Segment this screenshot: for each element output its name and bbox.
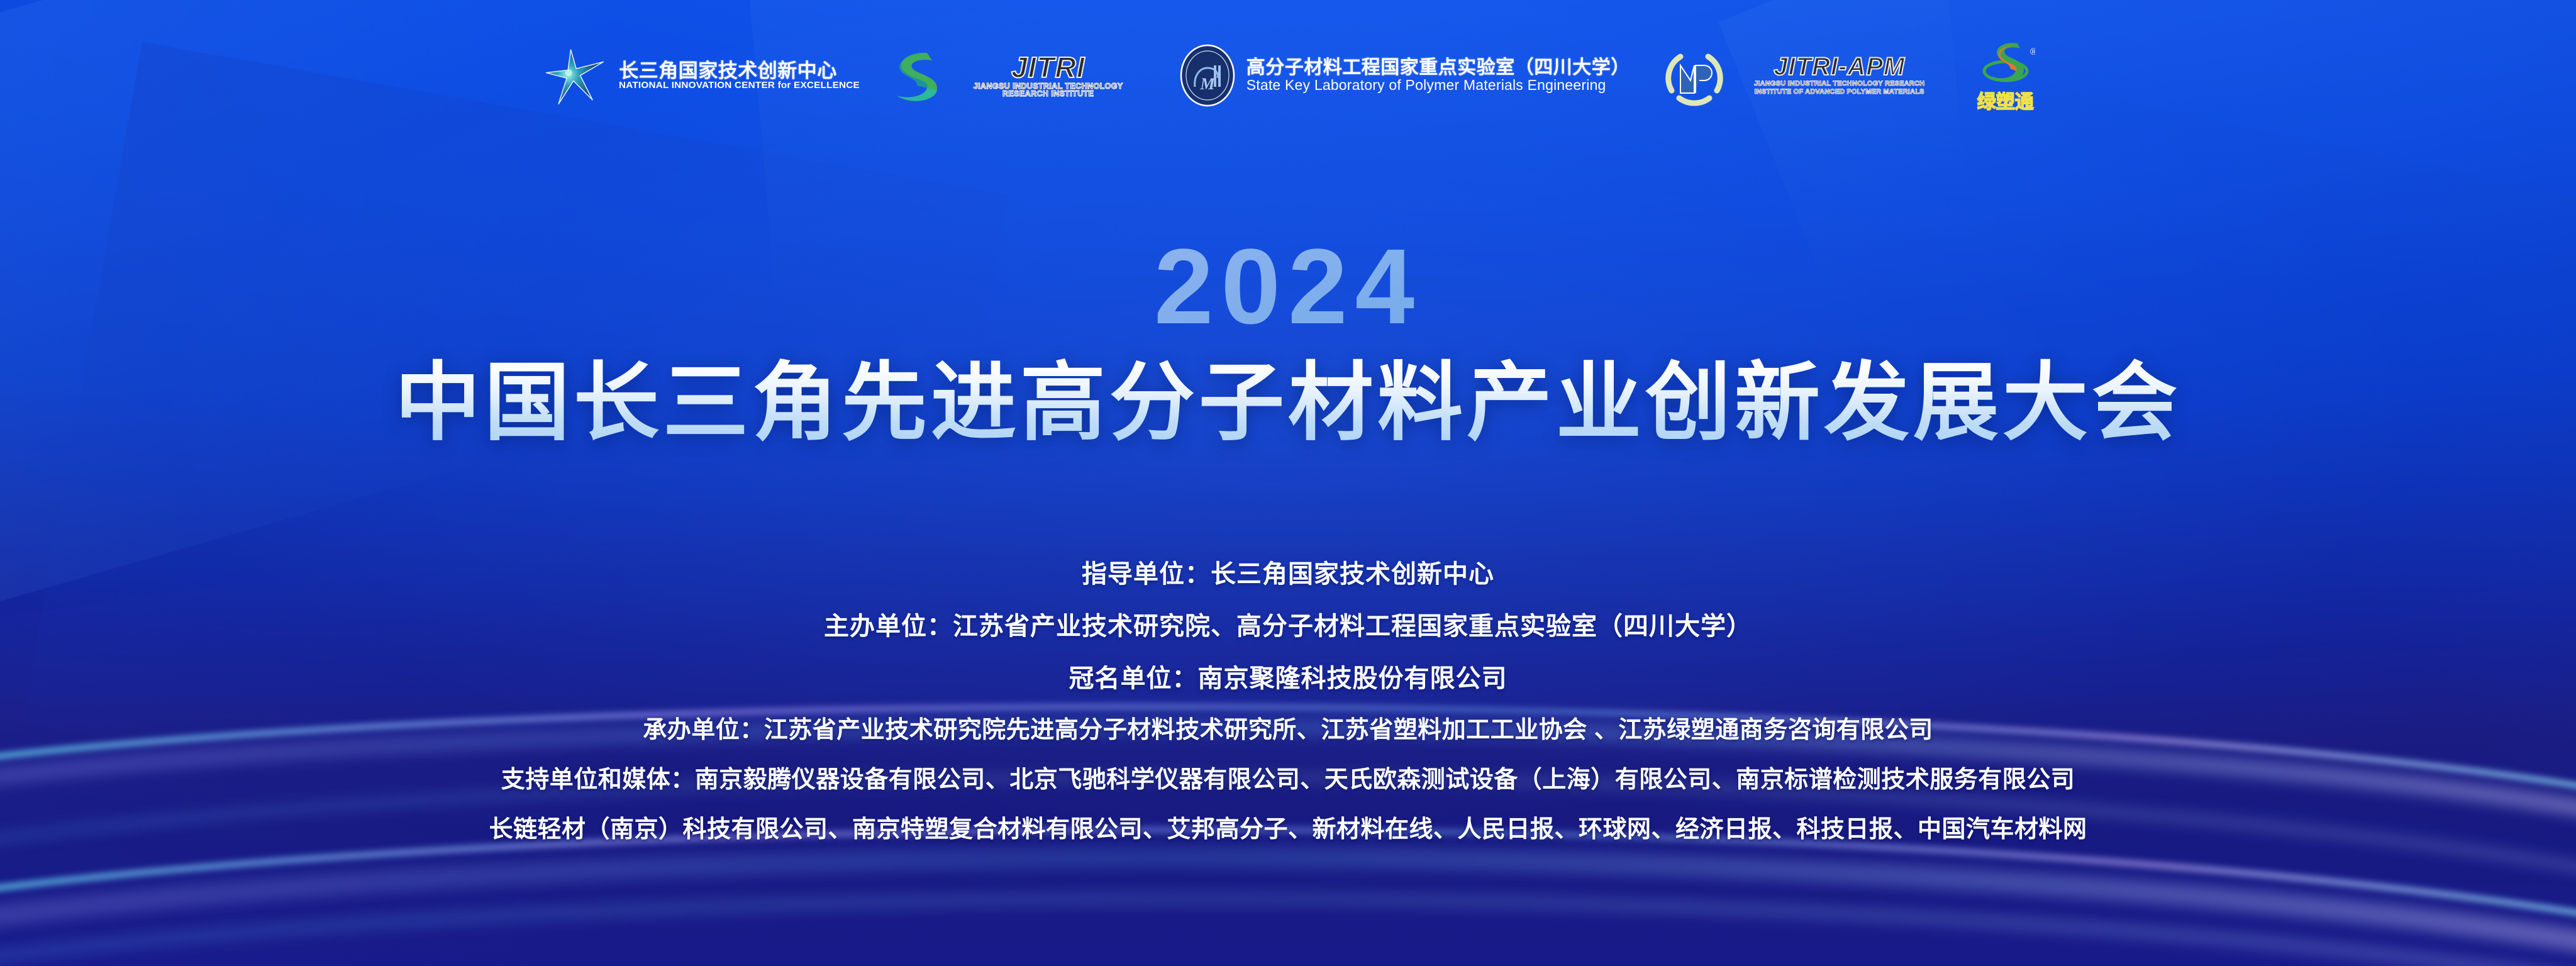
logo-label-cn: JITRI-APM bbox=[1774, 54, 1905, 80]
logo-label-en: State Key Laboratory of Polymer Material… bbox=[1246, 78, 1630, 92]
logo-national-innovation-center: 长三角国家技术创新中心 NATIONAL INNOVATION CENTER f… bbox=[541, 42, 855, 109]
logo-lvsutong: ® 绿塑通 bbox=[1976, 37, 2035, 114]
logo-label-cn: 高分子材料工程国家重点实验室（四川大学） bbox=[1246, 58, 1630, 78]
oval-seal-icon: M bbox=[1179, 43, 1236, 108]
logo-label-en: JIANGSU INDUSTRIAL TECHNOLOGY RESEARCH I… bbox=[951, 82, 1146, 99]
logo-jitri: JITRI JIANGSU INDUSTRIAL TECHNOLOGY RESE… bbox=[888, 47, 1146, 104]
credit-organizer: 承办单位：江苏省产业技术研究院先进高分子材料技术研究所、江苏省塑料加工工业协会 … bbox=[0, 710, 2576, 745]
credit-guiding-unit: 指导单位：长三角国家技术创新中心 bbox=[0, 553, 2576, 590]
conference-banner: 长三角国家技术创新中心 NATIONAL INNOVATION CENTER f… bbox=[0, 0, 2576, 966]
m-circle-icon bbox=[1663, 43, 1726, 108]
logo-label-cn: JITRI bbox=[1011, 53, 1085, 82]
logo-jitri-apm: JITRI-APM JIANGSU INDUSTRIAL TECHNOLOGY … bbox=[1663, 43, 1943, 108]
year-display: 2024 bbox=[0, 225, 2576, 348]
credit-supporters-2: 长链轻材（南京）科技有限公司、南京特塑复合材料有限公司、艾邦高分子、新材料在线、… bbox=[0, 809, 2576, 844]
logo-label-en: JIANGSU INDUSTRIAL TECHNOLOGY RESEARCH I… bbox=[1736, 80, 1943, 97]
logo-label-cn: 长三角国家技术创新中心 bbox=[619, 61, 855, 81]
logo-state-key-laboratory: M 高分子材料工程国家重点实验室（四川大学） State Key Laborat… bbox=[1179, 43, 1630, 108]
credit-supporters-1: 支持单位和媒体：南京毅腾仪器设备有限公司、北京飞驰科学仪器有限公司、天氏欧森测试… bbox=[0, 760, 2576, 794]
sponsor-logo-strip: 长三角国家技术创新中心 NATIONAL INNOVATION CENTER f… bbox=[0, 25, 2576, 126]
page-title: 中国长三角先进高分子材料产业创新发展大会 bbox=[0, 333, 2576, 457]
svg-text:M: M bbox=[1199, 75, 1215, 93]
credits-block: 指导单位：长三角国家技术创新中心 主办单位：江苏省产业技术研究院、高分子材料工程… bbox=[0, 553, 2576, 844]
credit-title-sponsor: 冠名单位：南京聚隆科技股份有限公司 bbox=[0, 658, 2576, 694]
logo-label-cn: 绿塑通 bbox=[1977, 86, 2034, 114]
starfish-icon bbox=[541, 42, 609, 109]
svg-text:®: ® bbox=[2030, 47, 2035, 57]
green-orange-s-icon: ® bbox=[1976, 37, 2035, 85]
credit-host-unit: 主办单位：江苏省产业技术研究院、高分子材料工程国家重点实验室（四川大学） bbox=[0, 606, 2576, 642]
logo-label-en: NATIONAL INNOVATION CENTER for EXCELLENC… bbox=[619, 80, 860, 90]
green-s-ribbon-icon bbox=[888, 47, 941, 104]
